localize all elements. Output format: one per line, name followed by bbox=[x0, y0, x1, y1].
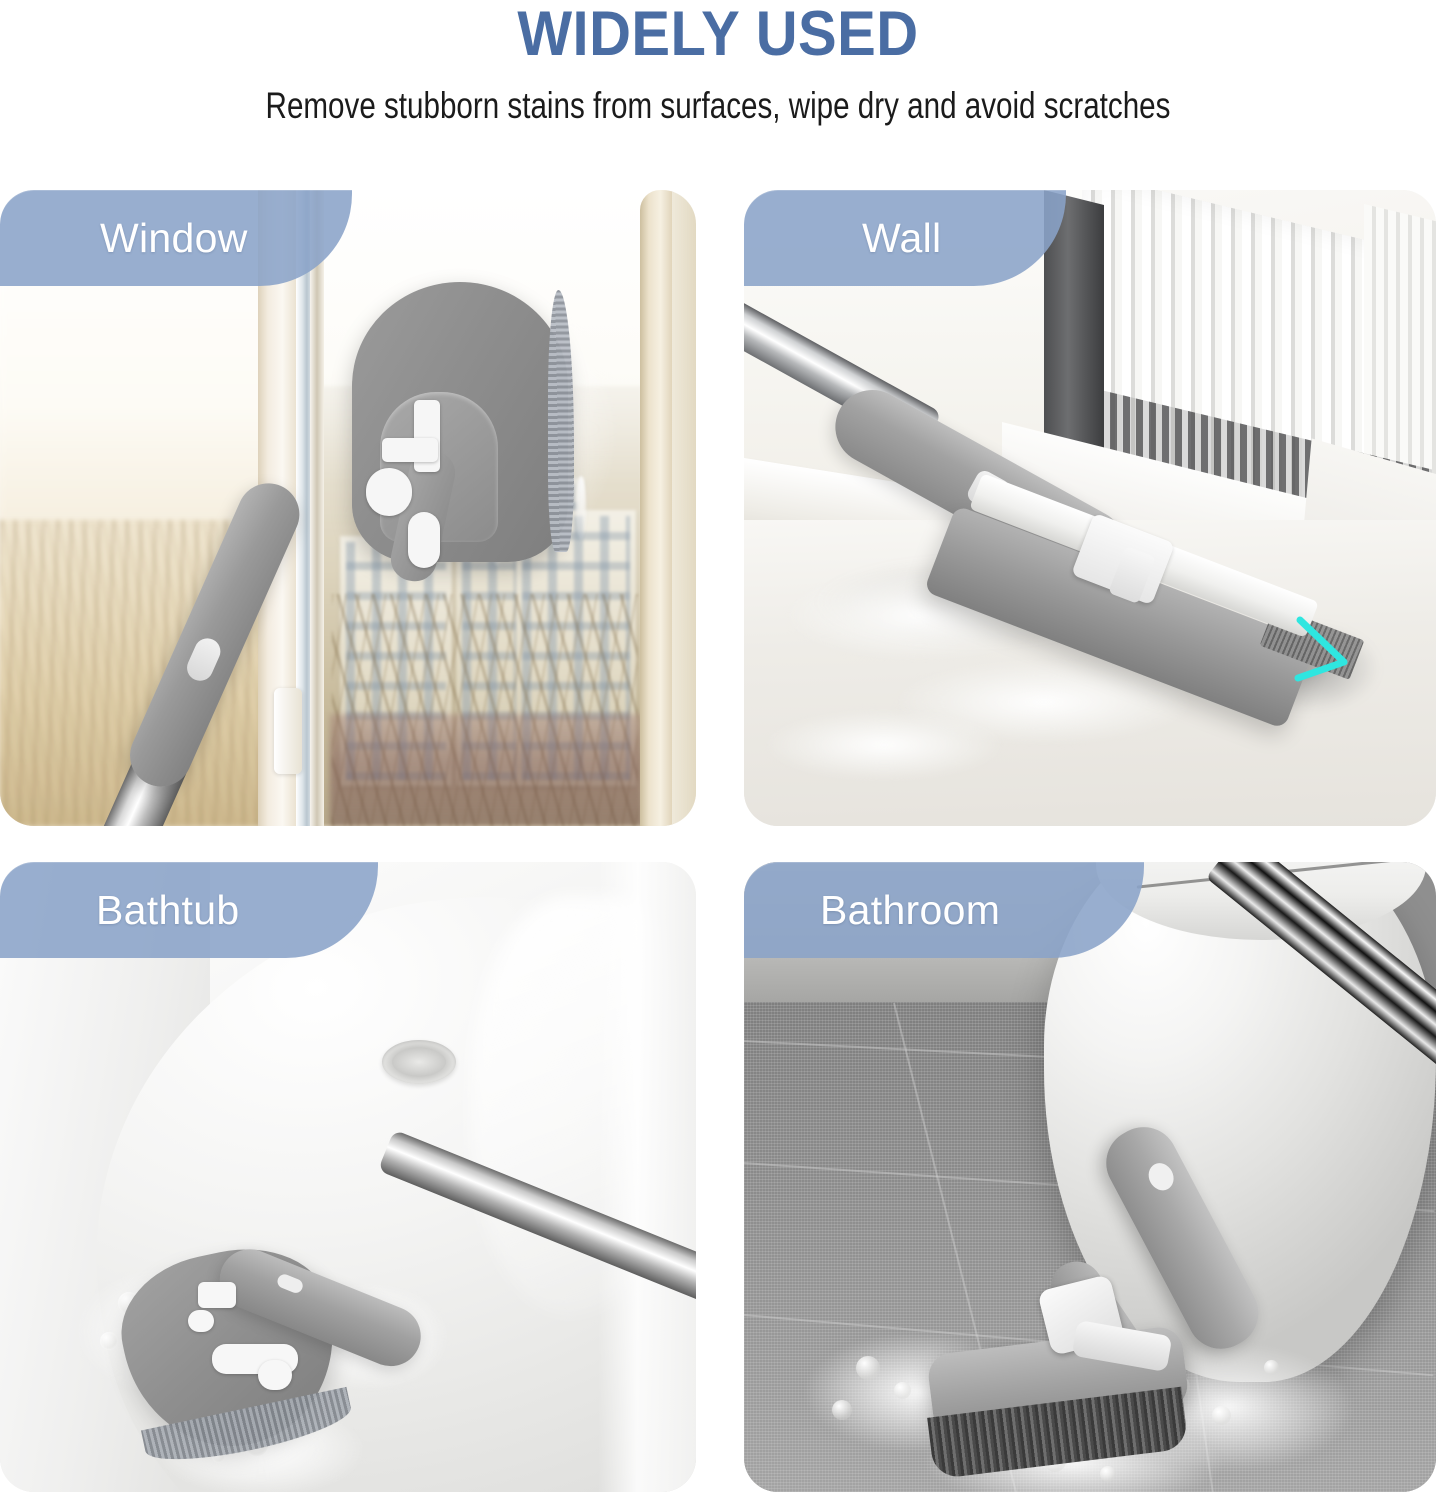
panel-label-wall: Wall bbox=[744, 190, 1066, 286]
panel-label-text: Bathtub bbox=[96, 887, 239, 934]
window-handle bbox=[274, 688, 302, 774]
panel-bathtub[interactable]: Bathtub bbox=[0, 862, 696, 1492]
panel-label-text: Wall bbox=[862, 215, 941, 262]
panel-wall[interactable]: Wall bbox=[744, 190, 1436, 826]
panel-label-bathroom: Bathroom bbox=[744, 862, 1144, 958]
infographic-page: WIDELY USED Remove stubborn stains from … bbox=[0, 0, 1436, 1498]
panel-label-text: Bathroom bbox=[820, 887, 1000, 934]
window-tool-mop-head bbox=[352, 282, 568, 562]
panel-label-bathtub: Bathtub bbox=[0, 862, 378, 958]
page-title: WIDELY USED bbox=[57, 2, 1378, 66]
page-subtitle: Remove stubborn stains from surfaces, wi… bbox=[144, 84, 1293, 128]
panel-label-text: Window bbox=[100, 215, 248, 262]
arrow-marker-icon bbox=[1292, 616, 1360, 686]
bathtub-drain bbox=[382, 1040, 456, 1084]
panel-bathroom[interactable]: Bathroom bbox=[744, 862, 1436, 1492]
panel-window[interactable]: Window bbox=[0, 190, 696, 826]
scenario-grid: Window bbox=[0, 190, 1436, 1492]
window-tool-release-button bbox=[183, 634, 225, 685]
panel-label-window: Window bbox=[0, 190, 352, 286]
header: WIDELY USED Remove stubborn stains from … bbox=[0, 0, 1436, 160]
